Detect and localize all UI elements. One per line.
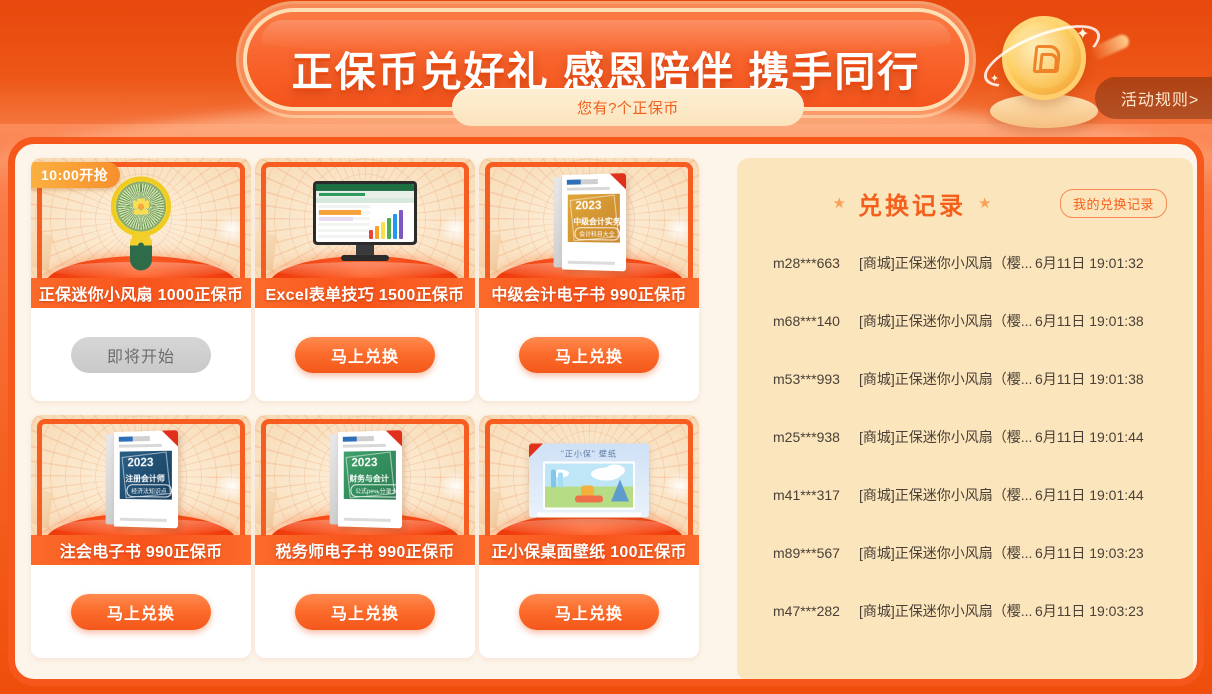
record-user: m25***938 [737,429,859,445]
product-card[interactable]: 10:00开抢 正保迷你小风扇 1000正保币 即将开始 [31,158,251,401]
product-footer: 马上兑换 [255,565,475,658]
product-image: 2023 中级会计实务 会计科目大全 [479,158,699,298]
table-row: m68***140 [商城]正保迷你小风扇（樱... 6月11日 19:01:3… [737,292,1193,350]
book-tag: 公式речь分录大全 [350,484,402,498]
product-footer: 马上兑换 [479,565,699,658]
activity-rules-button[interactable]: 活动规则> [1095,77,1212,119]
record-item: [商城]正保迷你小风扇（樱... [859,311,1035,331]
product-title: 税务师电子书 990正保币 [255,535,475,565]
product-title: 中级会计电子书 990正保币 [479,278,699,308]
glow-decor [439,471,473,501]
product-image: 10:00开抢 [31,158,251,298]
coming-soon-button[interactable]: 即将开始 [71,337,211,373]
exchange-button[interactable]: 马上兑换 [295,337,435,373]
my-records-button[interactable]: 我的兑换记录 [1060,189,1167,218]
record-time: 6月11日 19:01:44 [1035,485,1193,505]
records-list: m28***663 [商城]正保迷你小风扇（樱... 6月11日 19:01:3… [737,234,1193,640]
coin-balance-pill: 您有?个正保币 [452,88,804,126]
product-footer: 马上兑换 [479,308,699,401]
record-time: 6月11日 19:03:23 [1035,601,1193,621]
exchange-button[interactable]: 马上兑换 [519,337,659,373]
record-item: [商城]正保迷你小风扇（樱... [859,601,1035,621]
record-time: 6月11日 19:01:38 [1035,311,1193,331]
book-year: 2023 [351,455,377,469]
book-gold-icon: 2023 中级会计实务 会计科目大全 [552,174,626,270]
record-time: 6月11日 19:01:38 [1035,369,1193,389]
book-blue-icon: 2023 注册会计师 经济法知识点 [104,431,178,527]
book-tag: 经济法知识点 [126,484,171,497]
table-row: m47***282 [商城]正保迷你小风扇（樱... 6月11日 19:03:2… [737,582,1193,640]
book-name: 财务与会计 [350,473,389,484]
wallpaper-caption: "正小保" 壁纸 [529,449,649,460]
records-title: 兑换记录 [858,186,966,221]
product-card[interactable]: 2023 注册会计师 经济法知识点 注会电子书 990正保币 [31,415,251,658]
record-user: m89***567 [737,545,859,561]
coin-balance-text: 您有?个正保币 [577,97,679,118]
record-user: m47***282 [737,603,859,619]
glow-decor [663,214,697,244]
exchange-button[interactable]: 马上兑换 [71,594,211,630]
monitor-excel-icon [313,181,417,265]
table-row: m28***663 [商城]正保迷你小风扇（樱... 6月11日 19:01:3… [737,234,1193,292]
product-image: 2023 财务与会计 公式речь分录大全 [255,415,475,555]
book-year: 2023 [127,455,153,469]
exchange-records-panel: ★ 兑换记录 ★ 我的兑换记录 m28***663 [商城]正保迷你小风扇（樱.… [737,158,1193,681]
record-user: m53***993 [737,371,859,387]
glow-decor [663,471,697,501]
coin-icon: ✦ ✦ [972,6,1112,146]
record-item: [商城]正保迷你小风扇（樱... [859,253,1035,273]
record-item: [商城]正保迷你小风扇（樱... [859,485,1035,505]
record-item: [商城]正保迷你小风扇（樱... [859,427,1035,447]
product-title: Excel表单技巧 1500正保币 [255,278,475,308]
book-name: 中级会计实务 [574,216,621,227]
page-header: 正保币兑好礼 感恩陪伴 携手同行 您有?个正保币 ✦ ✦ 活动规则> [0,0,1212,150]
table-row: m41***317 [商城]正保迷你小风扇（樱... 6月11日 19:01:4… [737,466,1193,524]
book-year: 2023 [575,198,601,212]
exchange-button[interactable]: 马上兑换 [519,594,659,630]
product-footer: 马上兑换 [31,565,251,658]
glow-decor [215,471,249,501]
sparkle-icon: ✦ [1076,24,1089,44]
book-green-icon: 2023 财务与会计 公式речь分录大全 [328,431,402,527]
record-time: 6月11日 19:01:44 [1035,427,1193,447]
glow-decor [439,214,473,244]
product-footer: 即将开始 [31,308,251,401]
star-icon: ★ [833,194,846,212]
record-user: m28***663 [737,255,859,271]
main-panel: 10:00开抢 正保迷你小风扇 1000正保币 即将开始 [8,137,1204,686]
record-user: m41***317 [737,487,859,503]
glow-decor [215,214,249,244]
star-icon: ★ [978,194,991,212]
product-image: "正小保" 壁纸 [479,415,699,555]
countdown-badge: 10:00开抢 [31,162,120,188]
exchange-button[interactable]: 马上兑换 [295,594,435,630]
record-user: m68***140 [737,313,859,329]
product-title: 正保迷你小风扇 1000正保币 [31,278,251,308]
product-image [255,158,475,298]
record-item: [商城]正保迷你小风扇（樱... [859,369,1035,389]
product-image: 2023 注册会计师 经济法知识点 [31,415,251,555]
book-name: 注册会计师 [126,473,165,484]
mini-fan-icon [109,176,173,268]
product-card[interactable]: Excel表单技巧 1500正保币 马上兑换 [255,158,475,401]
product-card[interactable]: 2023 财务与会计 公式речь分录大全 税务师电子书 990正保币 [255,415,475,658]
table-row: m53***993 [商城]正保迷你小风扇（樱... 6月11日 19:01:3… [737,350,1193,408]
product-title: 正小保桌面壁纸 100正保币 [479,535,699,565]
table-row: m25***938 [商城]正保迷你小风扇（樱... 6月11日 19:01:4… [737,408,1193,466]
records-header: ★ 兑换记录 ★ 我的兑换记录 [737,186,1193,220]
wallpaper-icon: "正小保" 壁纸 [529,444,649,518]
record-item: [商城]正保迷你小风扇（樱... [859,543,1035,563]
record-time: 6月11日 19:03:23 [1035,543,1193,563]
product-grid: 10:00开抢 正保迷你小风扇 1000正保币 即将开始 [31,158,721,658]
book-tag: 会计科目大全 [574,227,619,240]
product-card[interactable]: "正小保" 壁纸 [479,415,699,658]
sparkle-icon: ✦ [990,72,999,85]
product-card[interactable]: 2023 中级会计实务 会计科目大全 中级会计电子书 990正保币 [479,158,699,401]
record-time: 6月11日 19:01:32 [1035,253,1193,273]
table-row: m89***567 [商城]正保迷你小风扇（樱... 6月11日 19:03:2… [737,524,1193,582]
product-title: 注会电子书 990正保币 [31,535,251,565]
product-footer: 马上兑换 [255,308,475,401]
